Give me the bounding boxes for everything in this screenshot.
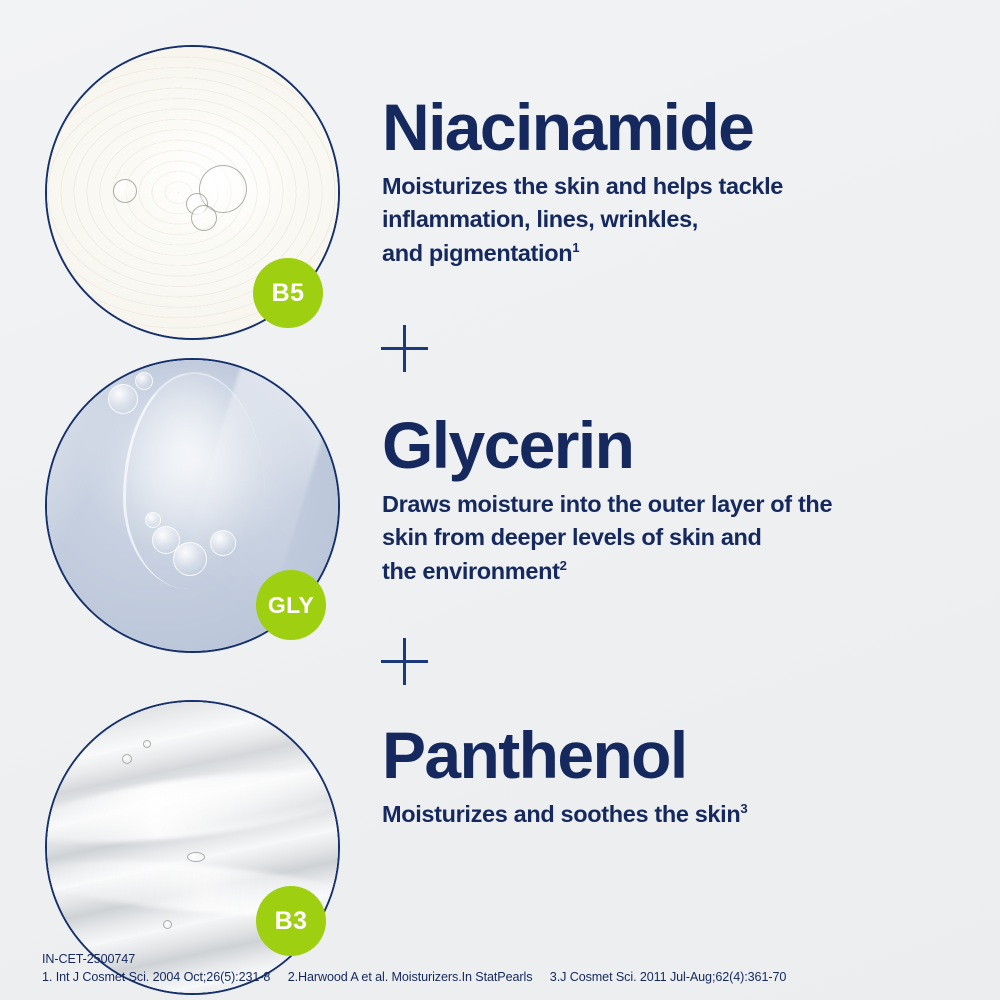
- reference-list: 1. Int J Cosmet Sci. 2004 Oct;26(5):231-…: [42, 968, 786, 986]
- gel-bubble: [113, 179, 137, 203]
- ingredient-description: Moisturizes the skin and helps tackle in…: [382, 170, 982, 270]
- plus-icon: [381, 325, 428, 372]
- infographic-page: B5 GLY B3 Niacinamide Moisturizes the s: [0, 0, 1000, 1000]
- description-line-with-footnote: Moisturizes and soothes the skin3: [382, 798, 982, 831]
- footnote-marker: 3: [740, 801, 747, 816]
- ingredient-description: Moisturizes and soothes the skin3: [382, 798, 982, 831]
- reference-item: 2.Harwood A et al. Moisturizers.In StatP…: [288, 970, 533, 984]
- gel-bubble: [191, 205, 217, 231]
- description-line: Moisturizes the skin and helps tackle: [382, 170, 982, 203]
- description-line: skin from deeper levels of skin and: [382, 521, 982, 554]
- gel-bubble: [122, 754, 132, 764]
- ingredient-heading: Panthenol: [382, 722, 982, 788]
- badge-b3: B3: [256, 886, 326, 956]
- description-line: inflammation, lines, wrinkles,: [382, 203, 982, 236]
- footnote-marker: 2: [560, 558, 567, 573]
- gel-bubble: [143, 740, 151, 748]
- gel-bubble: [108, 384, 138, 414]
- ingredient-heading: Niacinamide: [382, 94, 982, 160]
- plus-icon: [381, 638, 428, 685]
- badge-b3-label: B3: [275, 909, 308, 934]
- description-line-text: the environment: [382, 558, 560, 584]
- description-line-with-footnote: and pigmentation1: [382, 237, 982, 270]
- badge-gly-label: GLY: [268, 594, 314, 617]
- gel-bubble: [210, 530, 236, 556]
- plus-icon-vertical-bar: [403, 638, 406, 685]
- badge-b5-label: B5: [272, 281, 305, 306]
- ingredient-description: Draws moisture into the outer layer of t…: [382, 488, 982, 588]
- ingredient-heading: Glycerin: [382, 412, 982, 478]
- description-line-with-footnote: the environment2: [382, 555, 982, 588]
- description-line-text: and pigmentation: [382, 240, 572, 266]
- gel-bubble: [173, 542, 207, 576]
- gel-bubble: [145, 512, 161, 528]
- badge-gly: GLY: [256, 570, 326, 640]
- footnote-marker: 1: [572, 240, 579, 255]
- plus-icon-vertical-bar: [403, 325, 406, 372]
- material-code: IN-CET-2500747: [42, 950, 786, 968]
- ingredient-block-niacinamide: Niacinamide Moisturizes the skin and hel…: [382, 94, 982, 270]
- gel-bubble: [187, 852, 205, 862]
- gel-bubble: [135, 372, 153, 390]
- badge-b5: B5: [253, 258, 323, 328]
- ingredient-block-panthenol: Panthenol Moisturizes and soothes the sk…: [382, 722, 982, 831]
- gel-bubble: [163, 920, 172, 929]
- description-line: Draws moisture into the outer layer of t…: [382, 488, 982, 521]
- ingredient-block-glycerin: Glycerin Draws moisture into the outer l…: [382, 412, 982, 588]
- description-line-text: Moisturizes and soothes the skin: [382, 801, 740, 827]
- reference-item: 1. Int J Cosmet Sci. 2004 Oct;26(5):231-…: [42, 970, 270, 984]
- reference-item: 3.J Cosmet Sci. 2011 Jul-Aug;62(4):361-7…: [550, 970, 786, 984]
- footer: IN-CET-2500747 1. Int J Cosmet Sci. 2004…: [42, 950, 786, 987]
